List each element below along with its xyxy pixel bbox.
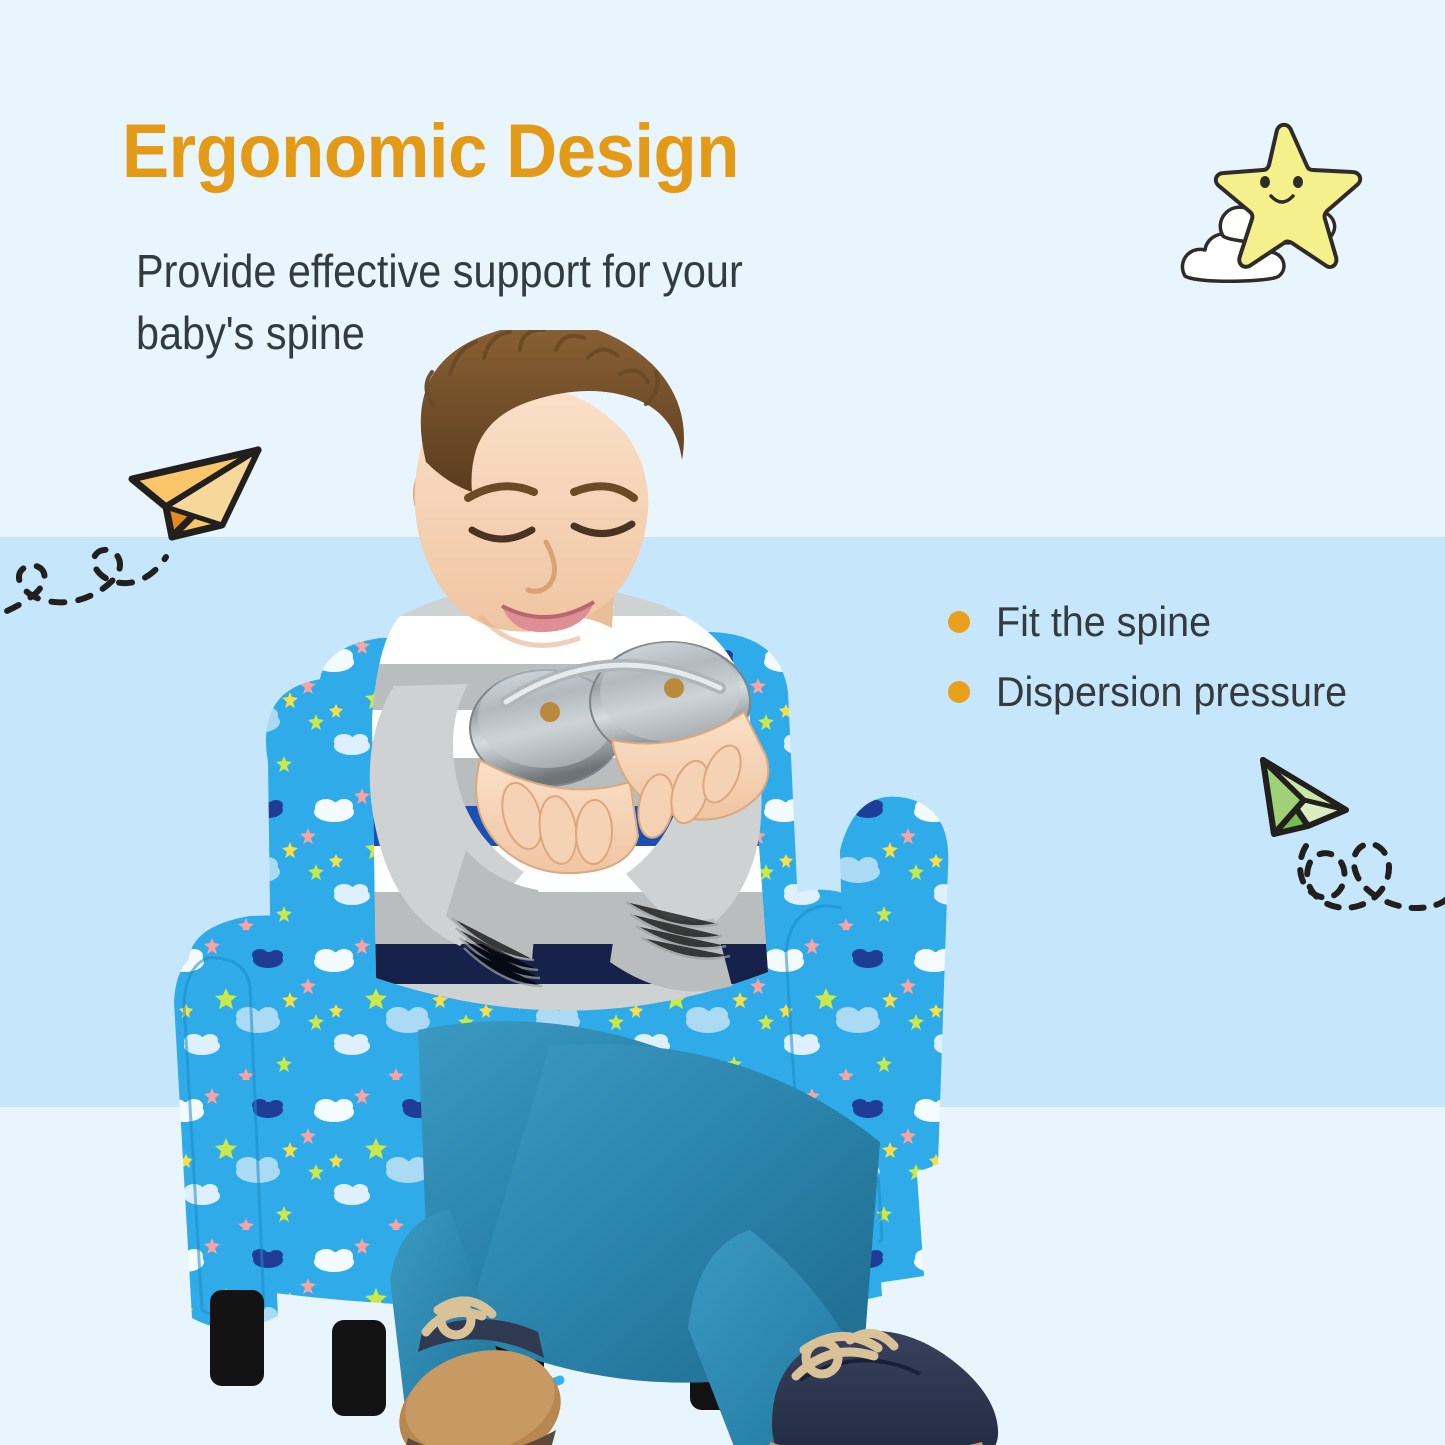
product-photo xyxy=(150,330,1150,1445)
chair-right-wing xyxy=(840,797,948,1175)
boy-right-shoe xyxy=(766,1331,998,1445)
star-cloud-icon xyxy=(1155,108,1385,313)
paper-plane-green-icon xyxy=(1238,748,1445,968)
page-title: Ergonomic Design xyxy=(122,108,739,195)
boy-head xyxy=(414,330,684,645)
product-infographic: Ergonomic Design Provide effective suppo… xyxy=(0,0,1445,1445)
